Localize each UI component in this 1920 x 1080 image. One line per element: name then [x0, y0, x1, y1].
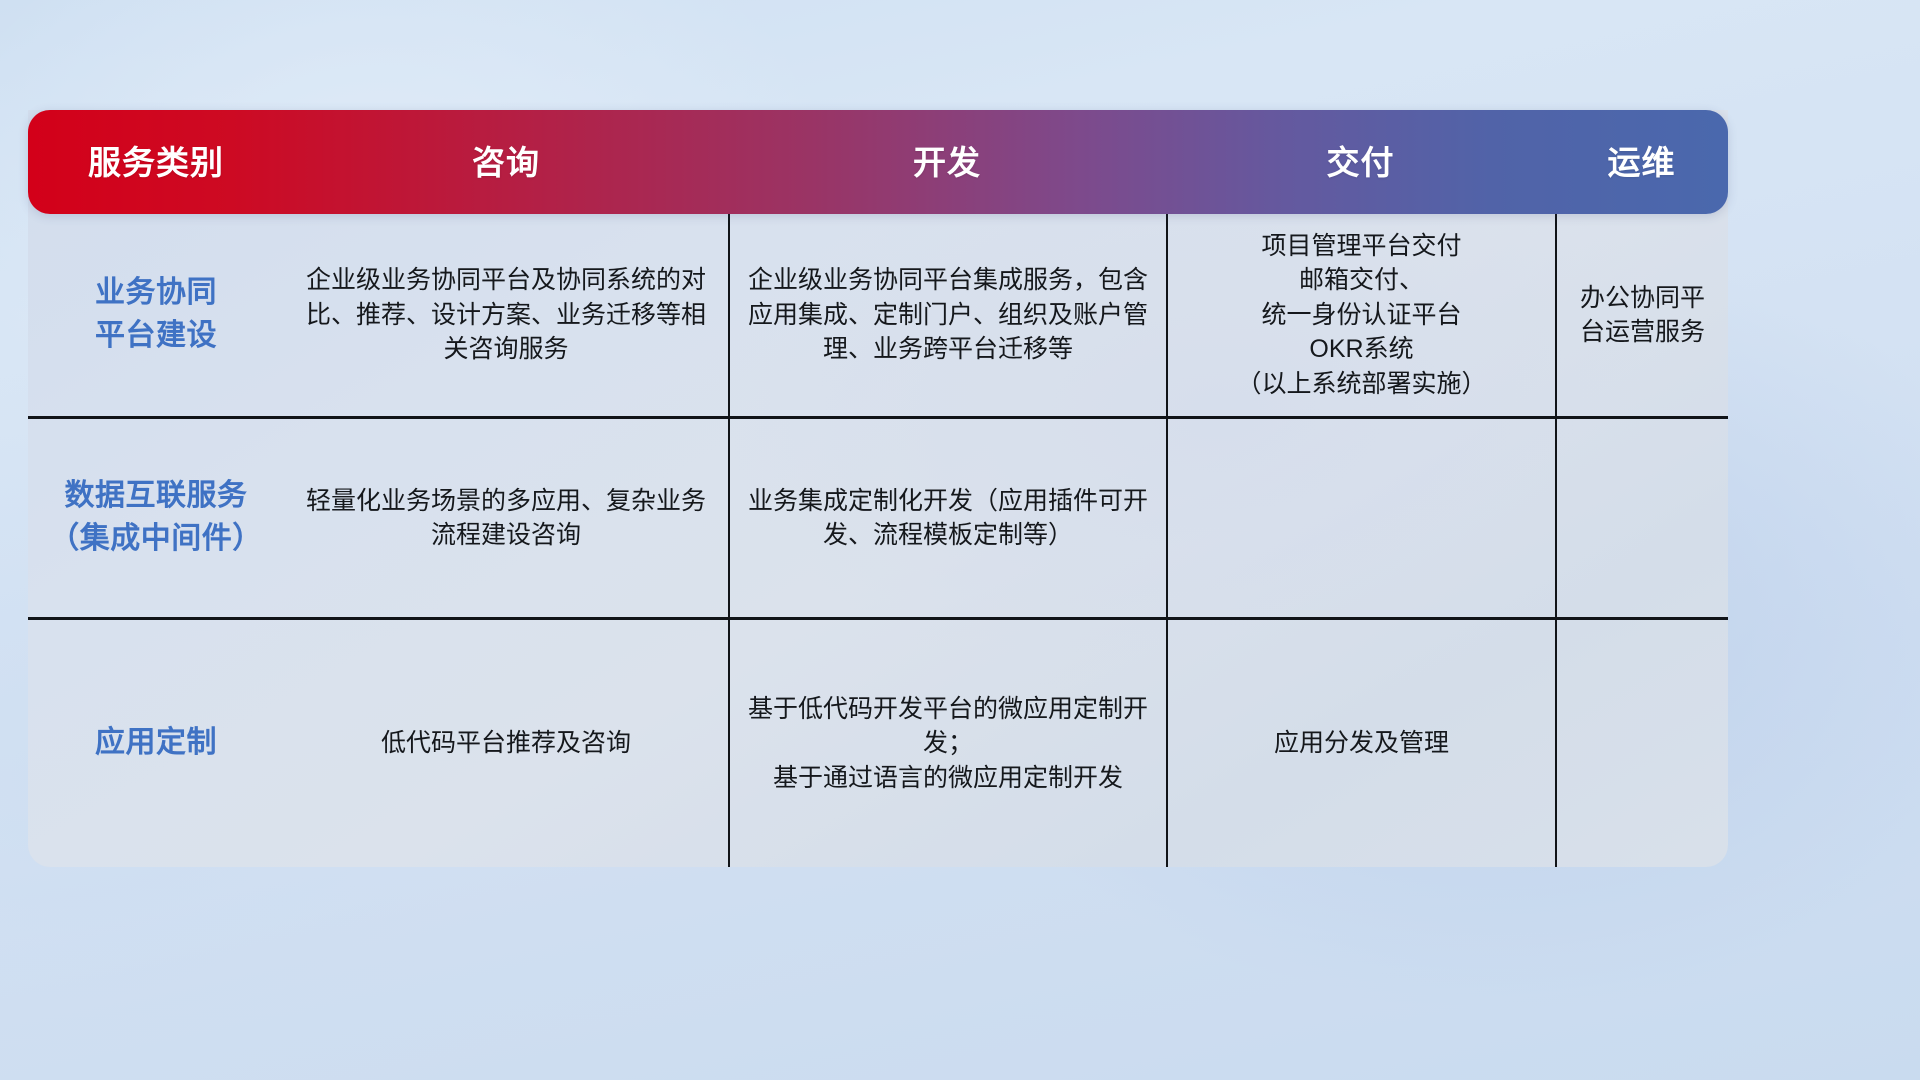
- row-label-business-collaboration: 业务协同 平台建设: [28, 214, 284, 416]
- cell-consulting-row1: 企业级业务协同平台及协同系统的对比、推荐、设计方案、业务迁移等相关咨询服务: [284, 214, 728, 416]
- cell-operations-row3: [1555, 620, 1728, 867]
- table-header-development: 开发: [728, 146, 1166, 179]
- cell-operations-row2: [1555, 419, 1728, 617]
- cell-consulting-row3: 低代码平台推荐及咨询: [284, 620, 728, 867]
- cell-development-row3: 基于低代码开发平台的微应用定制开发； 基于通过语言的微应用定制开发: [728, 620, 1166, 867]
- cell-development-row1: 企业级业务协同平台集成服务，包含应用集成、定制门户、组织及账户管理、业务跨平台迁…: [728, 214, 1166, 416]
- table-header-operations: 运维: [1555, 146, 1728, 179]
- row-label-data-interconnect: 数据互联服务 （集成中间件）: [28, 419, 284, 617]
- table-body: 业务协同 平台建设 企业级业务协同平台及协同系统的对比、推荐、设计方案、业务迁移…: [28, 110, 1728, 867]
- cell-delivery-row2: [1166, 419, 1555, 617]
- cell-consulting-row2: 轻量化业务场景的多应用、复杂业务流程建设咨询: [284, 419, 728, 617]
- table-header-consulting: 咨询: [284, 146, 728, 179]
- cell-delivery-row1: 项目管理平台交付 邮箱交付、 统一身份认证平台 OKR系统 （以上系统部署实施）: [1166, 214, 1555, 416]
- service-matrix-table: 服务类别 咨询 开发 交付 运维 业务协同 平台建设 企业级业务协同平台及协同系…: [28, 110, 1728, 867]
- table-header-delivery: 交付: [1166, 146, 1555, 179]
- cell-operations-row1: 办公协同平台运营服务: [1555, 214, 1728, 416]
- row-label-app-customization: 应用定制: [28, 620, 284, 867]
- table-row: 业务协同 平台建设 企业级业务协同平台及协同系统的对比、推荐、设计方案、业务迁移…: [28, 214, 1728, 416]
- table-row: 数据互联服务 （集成中间件） 轻量化业务场景的多应用、复杂业务流程建设咨询 业务…: [28, 416, 1728, 617]
- table-row: 应用定制 低代码平台推荐及咨询 基于低代码开发平台的微应用定制开发； 基于通过语…: [28, 617, 1728, 867]
- table-header-row: 服务类别 咨询 开发 交付 运维: [28, 110, 1728, 214]
- table-header-service-category: 服务类别: [28, 146, 284, 179]
- cell-delivery-row3: 应用分发及管理: [1166, 620, 1555, 867]
- cell-development-row2: 业务集成定制化开发（应用插件可开发、流程模板定制等）: [728, 419, 1166, 617]
